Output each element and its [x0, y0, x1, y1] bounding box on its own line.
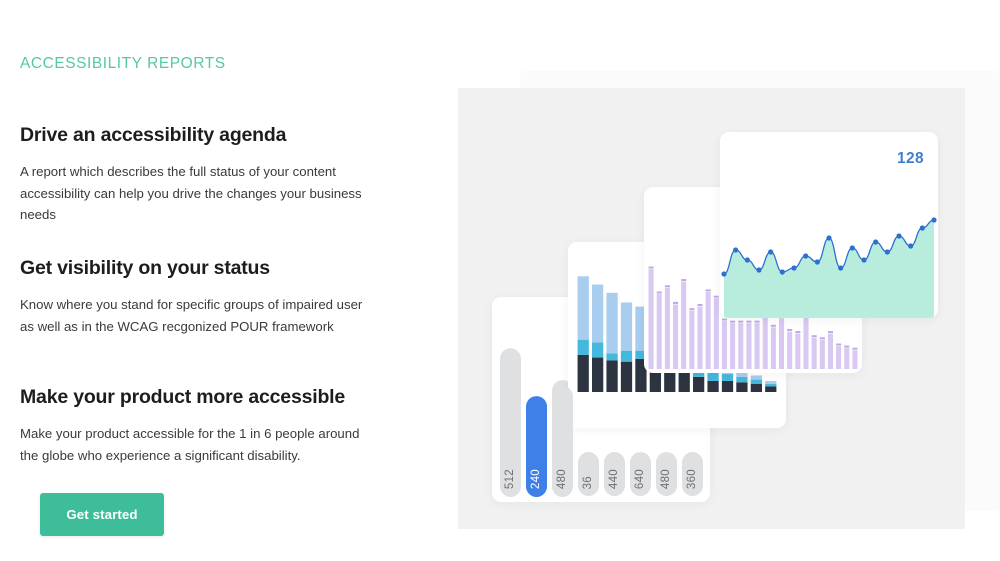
landing-page-section: ACCESSIBILITY REPORTS Drive an accessibi… — [0, 0, 1000, 561]
feature-block-agenda: Drive an accessibility agenda A report w… — [20, 124, 420, 226]
axis-pill-label: 36 — [583, 476, 595, 489]
section-eyebrow: ACCESSIBILITY REPORTS — [20, 55, 226, 73]
feature-title: Drive an accessibility agenda — [20, 124, 420, 147]
line-chart-value-label: 128 — [897, 150, 924, 168]
axis-pill-label: 240 — [531, 469, 543, 489]
axis-pill-480[interactable]: 480 — [552, 386, 573, 496]
content-column: ACCESSIBILITY REPORTS Drive an accessibi… — [20, 0, 430, 561]
axis-pill-label: 440 — [609, 469, 621, 489]
feature-block-visibility: Get visibility on your status Know where… — [20, 257, 420, 337]
feature-title: Make your product more accessible — [20, 386, 420, 409]
axis-pill-640[interactable]: 640 — [630, 452, 651, 496]
axis-pill-label: 480 — [661, 469, 673, 489]
axis-pill-label: 360 — [687, 469, 699, 489]
axis-pill-label: 512 — [505, 469, 517, 489]
feature-body: Know where you stand for specific groups… — [20, 294, 372, 337]
feature-title: Get visibility on your status — [20, 257, 420, 280]
axis-pill-360[interactable]: 360 — [682, 452, 703, 496]
axis-pill-36[interactable]: 36 — [578, 452, 599, 496]
dashboard-illustration: 128 51224048036440640480360 — [440, 50, 1000, 561]
feature-body: A report which describes the full status… — [20, 161, 372, 226]
dashboard-card-line-chart: 128 — [720, 132, 938, 318]
axis-pill-label: 640 — [635, 469, 647, 489]
axis-pill-240[interactable]: 240 — [526, 401, 547, 496]
axis-pill-group: 51224048036440640480360 — [500, 356, 703, 496]
get-started-button[interactable]: Get started — [40, 493, 164, 536]
axis-pill-label: 480 — [557, 469, 569, 489]
feature-block-accessible: Make your product more accessible Make y… — [20, 386, 420, 466]
axis-pill-480[interactable]: 480 — [656, 452, 677, 496]
axis-pill-512[interactable]: 512 — [500, 356, 521, 496]
feature-body: Make your product accessible for the 1 i… — [20, 423, 372, 466]
axis-pill-440[interactable]: 440 — [604, 452, 625, 496]
